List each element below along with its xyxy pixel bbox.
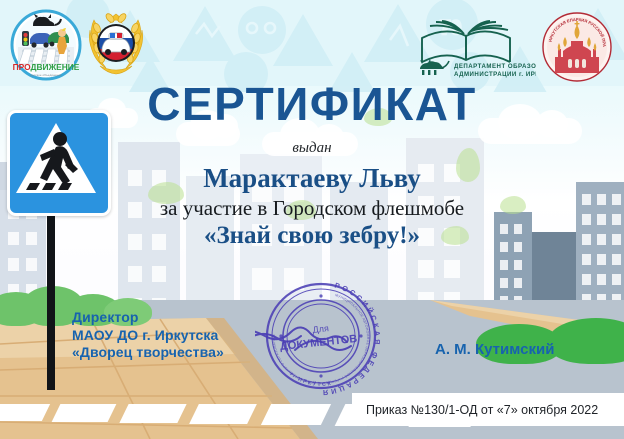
signatory-name: А. М. Кутимский: [435, 341, 554, 358]
logo-department-education: ДЕПАРТАМЕНТ ОБРАЗОВАНИЯ АДМИНИСТРАЦИИ г.…: [414, 18, 536, 80]
zebra-stripe: [261, 404, 331, 425]
recipient-name: Марактаеву Льву: [0, 163, 624, 194]
zebra-stripe: [119, 404, 186, 423]
logo-gibdd: [84, 10, 148, 78]
logo-cathedral: ИРКУТСКАЯ ЕПАРХИЯ РУССКОЙ ПРАВОСЛАВНОЙ Ц…: [541, 11, 613, 83]
bush: [548, 318, 624, 364]
svg-text:детское объединение: детское объединение: [30, 73, 61, 77]
certificate-canvas: 70: [0, 0, 624, 439]
department-line-1: ДЕПАРТАМЕНТ ОБРАЗОВАНИЯ: [454, 63, 536, 70]
zebra-stripe: [0, 404, 50, 421]
department-line-2: АДМИНИСТРАЦИИ г. ИРКУТСКА: [454, 71, 536, 78]
stamp-center-line-2: ДОКУМЕНТОВ: [279, 333, 357, 353]
svg-text:ПРОДВИЖЕНИЕ: ПРОДВИЖЕНИЕ: [13, 62, 80, 72]
stamp-bottom-text: г. ИРКУТСК: [289, 371, 333, 388]
order-reference-text: Приказ №130/1-ОД от «7» октября 2022: [352, 403, 598, 417]
official-stamp: РОССИЙСКАЯ ФЕДЕРАЦИЯ МУНИЦИПАЛЬНОЕ АВТОН…: [255, 276, 393, 404]
signatory-role-block: Директор МАОУ ДО г. Иркутска «Дворец тво…: [72, 309, 224, 362]
stamp-center-line-1: Для: [312, 323, 329, 335]
certificate-title: СЕРТИФИКАТ: [0, 80, 624, 128]
zebra-stripe: [189, 404, 257, 424]
signatory-role-line-3: «Дворец творчества»: [72, 344, 224, 362]
award-reason: за участие в Городском флешмобе: [0, 196, 624, 221]
zebra-stripe: [52, 404, 117, 422]
event-name: «Знай свою зебру!»: [0, 222, 624, 250]
logo-prodvizhenie: ПРОДВИЖЕНИЕ детское объединение: [10, 9, 82, 81]
signatory-role-line-1: Директор: [72, 309, 224, 327]
awarded-label: выдан: [0, 140, 624, 157]
order-reference-box: Приказ №130/1-ОД от «7» октября 2022: [352, 393, 624, 426]
signatory-role-line-2: МАОУ ДО г. Иркутска: [72, 327, 224, 345]
svg-text:г. ИРКУТСК: г. ИРКУТСК: [289, 371, 333, 388]
